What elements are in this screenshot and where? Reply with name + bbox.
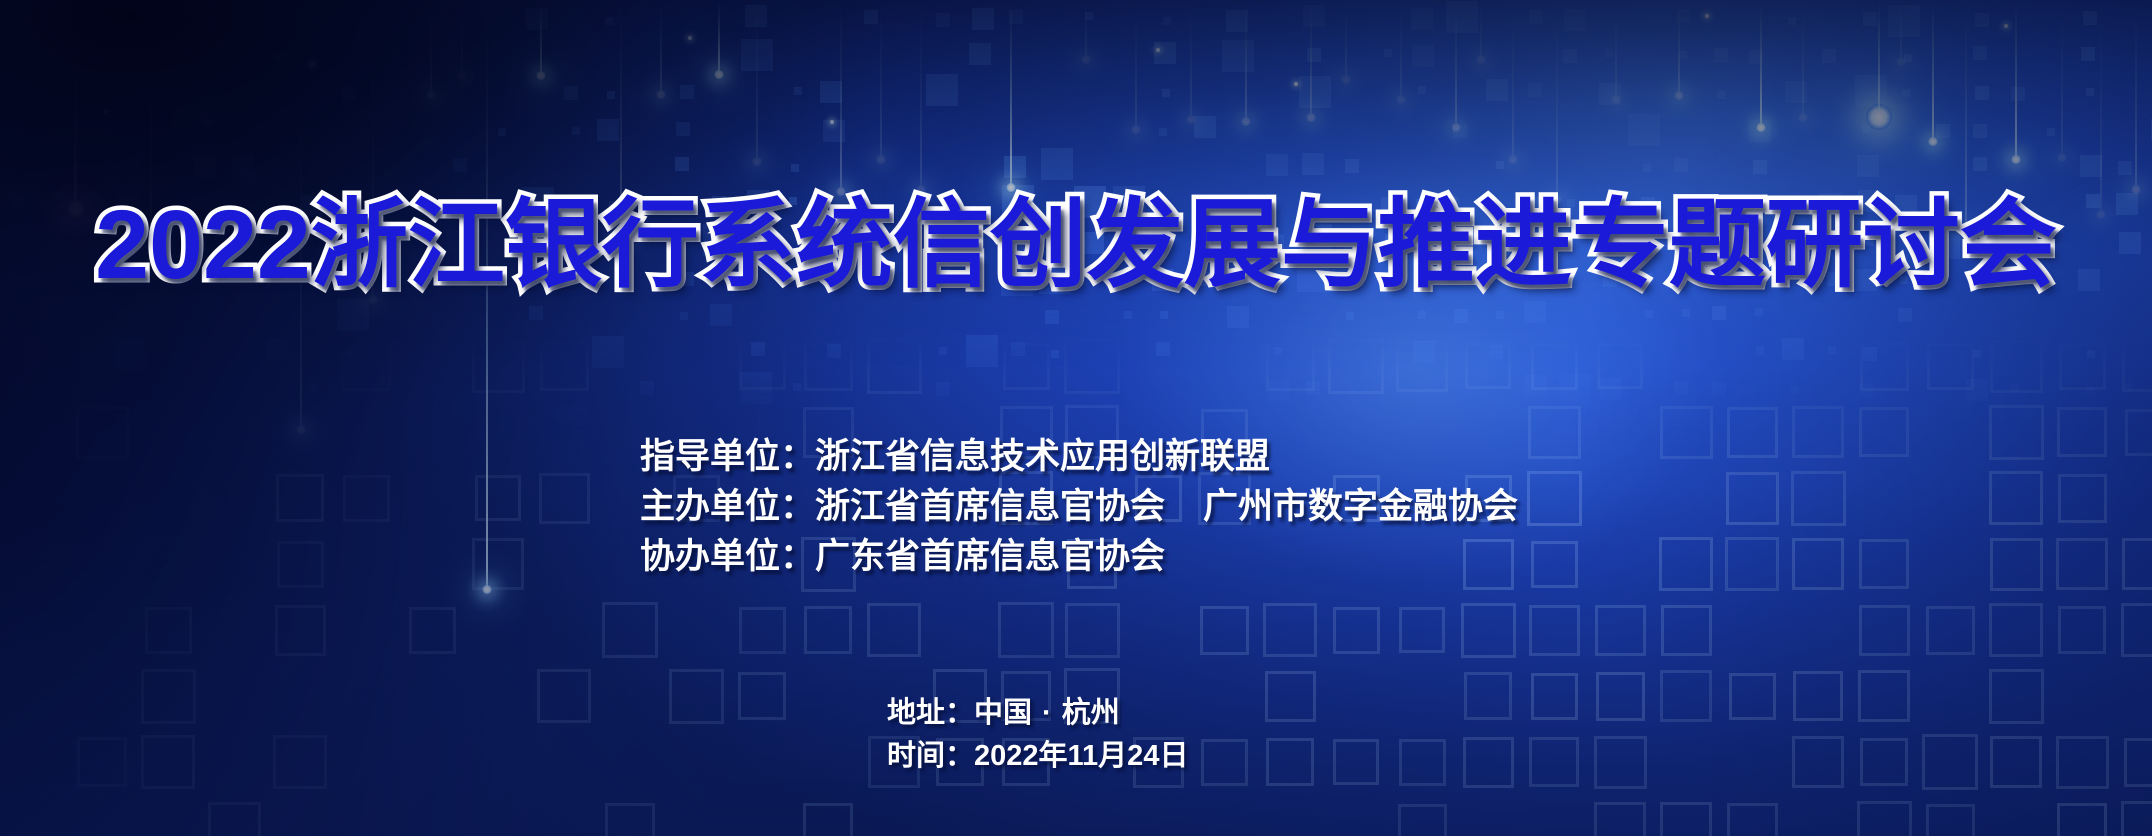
falling-streak xyxy=(430,0,432,95)
falling-streak xyxy=(920,0,922,190)
falling-streak xyxy=(2015,0,2017,160)
falling-streak xyxy=(1932,0,1934,142)
falling-streak xyxy=(1878,0,1880,125)
streak-drop-glow xyxy=(752,156,763,167)
streak-drop-glow xyxy=(1798,112,1809,123)
falling-streak xyxy=(1455,0,1457,128)
falling-streak xyxy=(660,0,662,95)
streak-drop-glow xyxy=(1186,114,1197,125)
streak-drop-glow xyxy=(1928,136,1939,147)
falling-streak xyxy=(756,0,758,162)
streak-drop-glow xyxy=(1508,154,1519,165)
coorganizer-unit-label: 协办单位： xyxy=(640,537,815,576)
background-spark xyxy=(688,36,692,40)
streak-drop-glow xyxy=(656,89,667,100)
background-spark xyxy=(1156,48,1160,52)
streak-drop-glow xyxy=(536,70,547,81)
streak-drop-glow xyxy=(2057,152,2068,163)
falling-streak xyxy=(1190,0,1192,120)
streak-drop-glow xyxy=(1081,54,1092,65)
streak-drop-glow xyxy=(1611,94,1622,105)
background-spark xyxy=(104,110,108,114)
address-label: 地址： xyxy=(887,697,974,729)
falling-streak xyxy=(74,0,77,215)
coorganizer-unit-value: 广东省首席信息官协会 xyxy=(815,537,1165,576)
falling-streak xyxy=(1615,0,1617,100)
host-unit-label: 主办单位： xyxy=(640,487,815,526)
guidance-unit-label: 指导单位： xyxy=(640,437,815,476)
streak-drop-glow xyxy=(1241,116,1252,127)
background-spark xyxy=(1705,14,1709,18)
streak-drop-glow xyxy=(876,154,887,165)
event-meta-block: 地址：中国·杭州 时间：2022年11月24日 xyxy=(887,692,1188,778)
streak-drop-glow xyxy=(1674,90,1685,101)
streak-drop-glow xyxy=(1341,74,1352,85)
streak-drop-glow xyxy=(1756,122,1767,133)
event-banner: 2022浙江银行系统信创发展与推进专题研讨会 指导单位：浙江省信息技术应用创新联… xyxy=(0,0,2152,836)
falling-streak xyxy=(540,0,542,76)
organizer-row-guidance: 指导单位：浙江省信息技术应用创新联盟 xyxy=(640,432,1518,482)
streak-drop-glow xyxy=(1396,94,1407,105)
streak-drop-glow xyxy=(1896,56,1907,67)
event-title: 2022浙江银行系统信创发展与推进专题研讨会 xyxy=(0,196,2152,293)
falling-streak xyxy=(2100,0,2102,215)
streak-drop-glow xyxy=(1131,124,1142,135)
organizer-row-coorganizer: 协办单位：广东省首席信息官协会 xyxy=(640,532,1518,582)
streak-drop-glow xyxy=(2011,154,2022,165)
falling-streak xyxy=(1400,0,1402,100)
background-spark xyxy=(310,62,314,66)
background-spark xyxy=(1294,82,1298,86)
address-country: 中国 xyxy=(974,697,1032,729)
falling-streak xyxy=(1085,0,1087,60)
falling-streak xyxy=(1010,0,1012,188)
address-city: 杭州 xyxy=(1062,697,1120,729)
streak-drop-glow xyxy=(2131,184,2142,195)
organizer-block: 指导单位：浙江省信息技术应用创新联盟 主办单位：浙江省首席信息官协会广州市数字金… xyxy=(640,432,1518,582)
streak-drop-glow xyxy=(426,89,437,100)
falling-streak xyxy=(461,0,463,76)
falling-streak xyxy=(1245,0,1247,122)
time-value: 2022年11月24日 xyxy=(974,740,1188,772)
falling-streak xyxy=(1678,0,1680,96)
falling-streak xyxy=(1760,0,1762,128)
falling-streak xyxy=(1135,0,1137,130)
falling-streak xyxy=(2135,0,2137,190)
streak-drop-glow xyxy=(1866,104,1892,130)
streak-drop-glow xyxy=(1306,112,1317,123)
streak-drop-glow xyxy=(457,70,468,81)
background-spark xyxy=(2004,24,2008,28)
falling-streak xyxy=(840,0,842,192)
host-unit-value-2: 广州市数字金融协会 xyxy=(1203,487,1518,526)
streak-drop-glow xyxy=(482,584,493,595)
falling-streak xyxy=(718,0,720,75)
falling-streak xyxy=(1480,0,1482,60)
organizer-row-host: 主办单位：浙江省首席信息官协会广州市数字金融协会 xyxy=(640,482,1518,532)
event-time-row: 时间：2022年11月24日 xyxy=(887,735,1188,778)
time-label: 时间： xyxy=(887,740,974,772)
streak-drop-glow xyxy=(714,69,725,80)
falling-streak xyxy=(1310,0,1312,118)
falling-streak xyxy=(1802,0,1804,118)
streak-drop-glow xyxy=(296,424,307,435)
falling-streak xyxy=(2061,0,2063,158)
background-spark xyxy=(830,120,834,124)
falling-streak xyxy=(1512,0,1514,160)
guidance-unit-value: 浙江省信息技术应用创新联盟 xyxy=(815,437,1270,476)
streak-drop-glow xyxy=(201,114,212,125)
host-unit-value: 浙江省首席信息官协会 xyxy=(815,487,1165,526)
streak-drop-glow xyxy=(1476,54,1487,65)
falling-streak xyxy=(880,0,882,160)
falling-streak xyxy=(1900,0,1902,62)
event-address-row: 地址：中国·杭州 xyxy=(887,692,1188,735)
falling-streak xyxy=(1345,0,1347,80)
address-separator-dot: · xyxy=(1032,692,1062,735)
streak-drop-glow xyxy=(1451,122,1462,133)
falling-streak xyxy=(205,0,207,120)
falling-streak xyxy=(1556,0,1558,200)
